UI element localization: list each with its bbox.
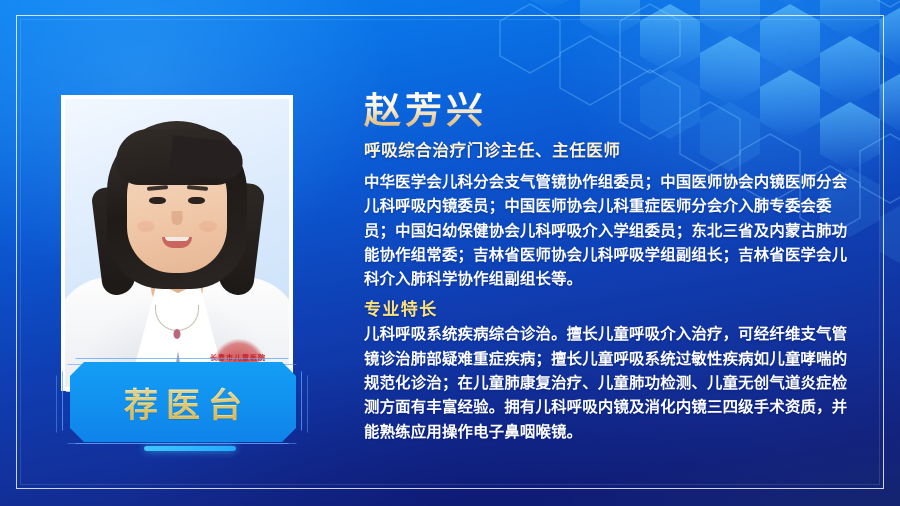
nameplate-block: 荐医台 <box>56 358 308 450</box>
doctor-title: 呼吸综合治疗门诊主任、主任医师 <box>364 137 862 161</box>
doctor-credentials: 中华医学会儿科分会支气管镜协作组委员；中国医师协会内镜医师分会儿科呼吸内镜委员；… <box>364 170 862 292</box>
nameplate-label: 荐医台 <box>116 378 250 427</box>
doctor-info-panel: 赵芳兴 呼吸综合治疗门诊主任、主任医师 中华医学会儿科分会支气管镜协作组委员；中… <box>364 92 862 444</box>
portrait-cheek-right <box>199 221 217 232</box>
nameplate-accent-bar <box>144 446 236 451</box>
portrait-cheek-left <box>137 221 155 232</box>
portrait-eye-left <box>149 197 166 204</box>
portrait-teeth <box>165 237 189 241</box>
nameplate-banner: 荐医台 <box>70 362 296 442</box>
specialty-heading: 专业特长 <box>364 295 862 320</box>
doctor-portrait-image: 长春市儿童医院 <box>65 99 289 387</box>
doctor-name: 赵芳兴 <box>364 92 862 131</box>
portrait-bangs-sweep <box>169 135 245 180</box>
doctor-specialty: 儿科呼吸系统疾病综合诊治。擅长儿童呼吸介入治疗，可经纤维支气管镜诊治肺部疑难重症… <box>364 322 862 444</box>
doctor-photo-card: 长春市儿童医院 <box>61 95 293 391</box>
portrait-pendant <box>174 329 181 339</box>
portrait-eye-right <box>188 197 205 204</box>
poster-canvas: 长春市儿童医院 荐医台 赵芳兴 呼吸综合治疗门诊主任、主任医师 中华医学会儿科分… <box>0 0 900 506</box>
portrait-nose <box>172 211 183 225</box>
